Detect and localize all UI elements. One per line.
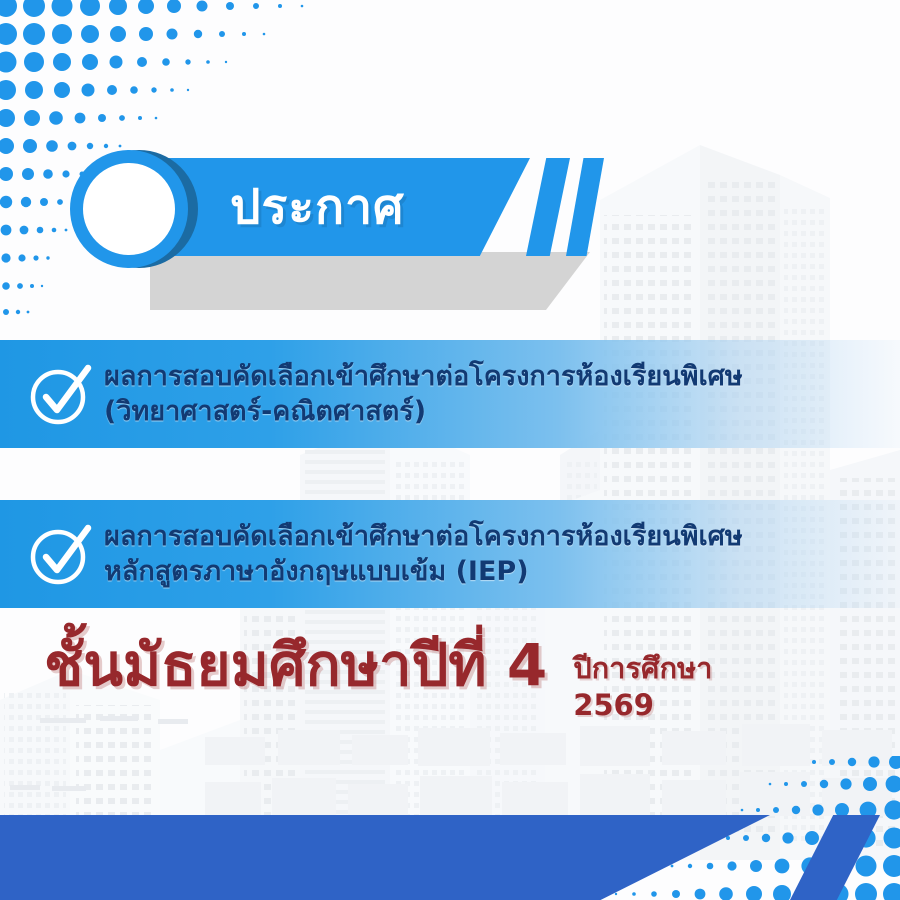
header-grey-band [150,252,590,310]
banner-text-block: ผลการสอบคัดเลือกเข้าศึกษาต่อโครงการห้องเ… [104,359,743,429]
banner-line-1: ผลการสอบคัดเลือกเข้าศึกษาต่อโครงการห้องเ… [104,359,743,394]
academic-year-value: 2569 [573,687,712,724]
academic-year-block: ปีการศึกษา 2569 [573,650,712,724]
banner-line-2: (วิทยาศาสตร์-คณิตศาสตร์) [104,394,743,429]
page-title: ประกาศ [230,169,405,245]
banner-line-2: หลักสูตรภาษาอังกฤษแบบเข้ม (IEP) [104,554,743,589]
academic-year-label: ปีการศึกษา [573,650,712,687]
bottom-slash-icon [790,815,880,900]
check-circle-icon [26,359,96,429]
bottom-accent-bar [0,815,770,900]
announcement-banner-iep: ผลการสอบคัดเลือกเข้าศึกษาต่อโครงการห้องเ… [0,500,900,608]
check-circle-icon [26,519,96,589]
slash-icon [566,158,604,256]
banner-line-1: ผลการสอบคัดเลือกเข้าศึกษาต่อโครงการห้องเ… [104,519,743,554]
slash-icon [526,158,570,256]
circle-outline-icon [70,150,188,268]
announcement-banner-science-math: ผลการสอบคัดเลือกเข้าศึกษาต่อโครงการห้องเ… [0,340,900,448]
announcement-poster: ประกาศ ผลการสอบคัดเลือกเข้าศึกษาต่อโครงก… [0,0,900,900]
grade-level-text: ชั้นมัธยมศึกษาปีที่ 4 [44,636,547,694]
banner-text-block: ผลการสอบคัดเลือกเข้าศึกษาต่อโครงการห้องเ… [104,519,743,589]
city-skyline-icon [0,0,900,900]
headline-block: ชั้นมัธยมศึกษาปีที่ 4 ปีการศึกษา 2569 [44,636,712,724]
